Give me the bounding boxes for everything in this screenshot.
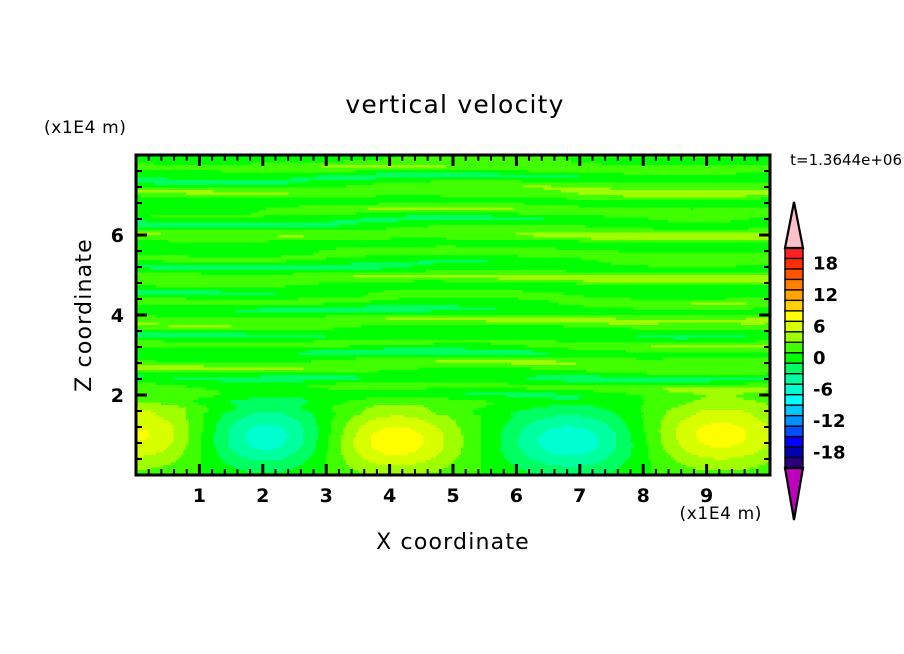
colorbar-bands	[785, 248, 803, 468]
y-axis-label: Z coordinate	[72, 238, 97, 392]
x-tick-label: 1	[193, 485, 206, 507]
colorbar-tick-label: 6	[813, 317, 826, 338]
time-annotation: t=1.3644e+06	[790, 151, 902, 169]
x-tick-label: 8	[637, 485, 650, 507]
x-tick-label: 7	[573, 485, 586, 507]
colorbar-tick-label: -6	[813, 379, 833, 400]
colorbar-tick-label: -18	[813, 442, 846, 463]
x-unit-label: (x1E4 m)	[680, 504, 762, 524]
x-tick-label: 5	[446, 485, 459, 507]
y-tick-label: 4	[111, 305, 124, 327]
colorbar-tick-label: -12	[813, 411, 846, 432]
x-axis-label: X coordinate	[376, 530, 530, 555]
x-tick-label: 2	[256, 485, 269, 507]
y-unit-label: (x1E4 m)	[44, 118, 126, 138]
x-tick-label: 6	[510, 485, 523, 507]
colorbar-tick-label: 18	[813, 254, 838, 275]
y-tick-label: 6	[111, 225, 124, 247]
contour-field	[136, 155, 772, 476]
x-tick-label: 3	[320, 485, 333, 507]
y-tick-label: 2	[111, 385, 124, 407]
colorbar-tick-label: 0	[813, 348, 826, 369]
plot-area	[136, 155, 772, 476]
colorbar-tick-label: 12	[813, 285, 838, 306]
vertical-velocity-contour-figure: vertical velocity (x1E4 m) Z coordinate …	[0, 0, 904, 654]
x-tick-label: 9	[700, 485, 713, 507]
page-title: vertical velocity	[345, 90, 564, 119]
x-tick-label: 4	[383, 485, 396, 507]
